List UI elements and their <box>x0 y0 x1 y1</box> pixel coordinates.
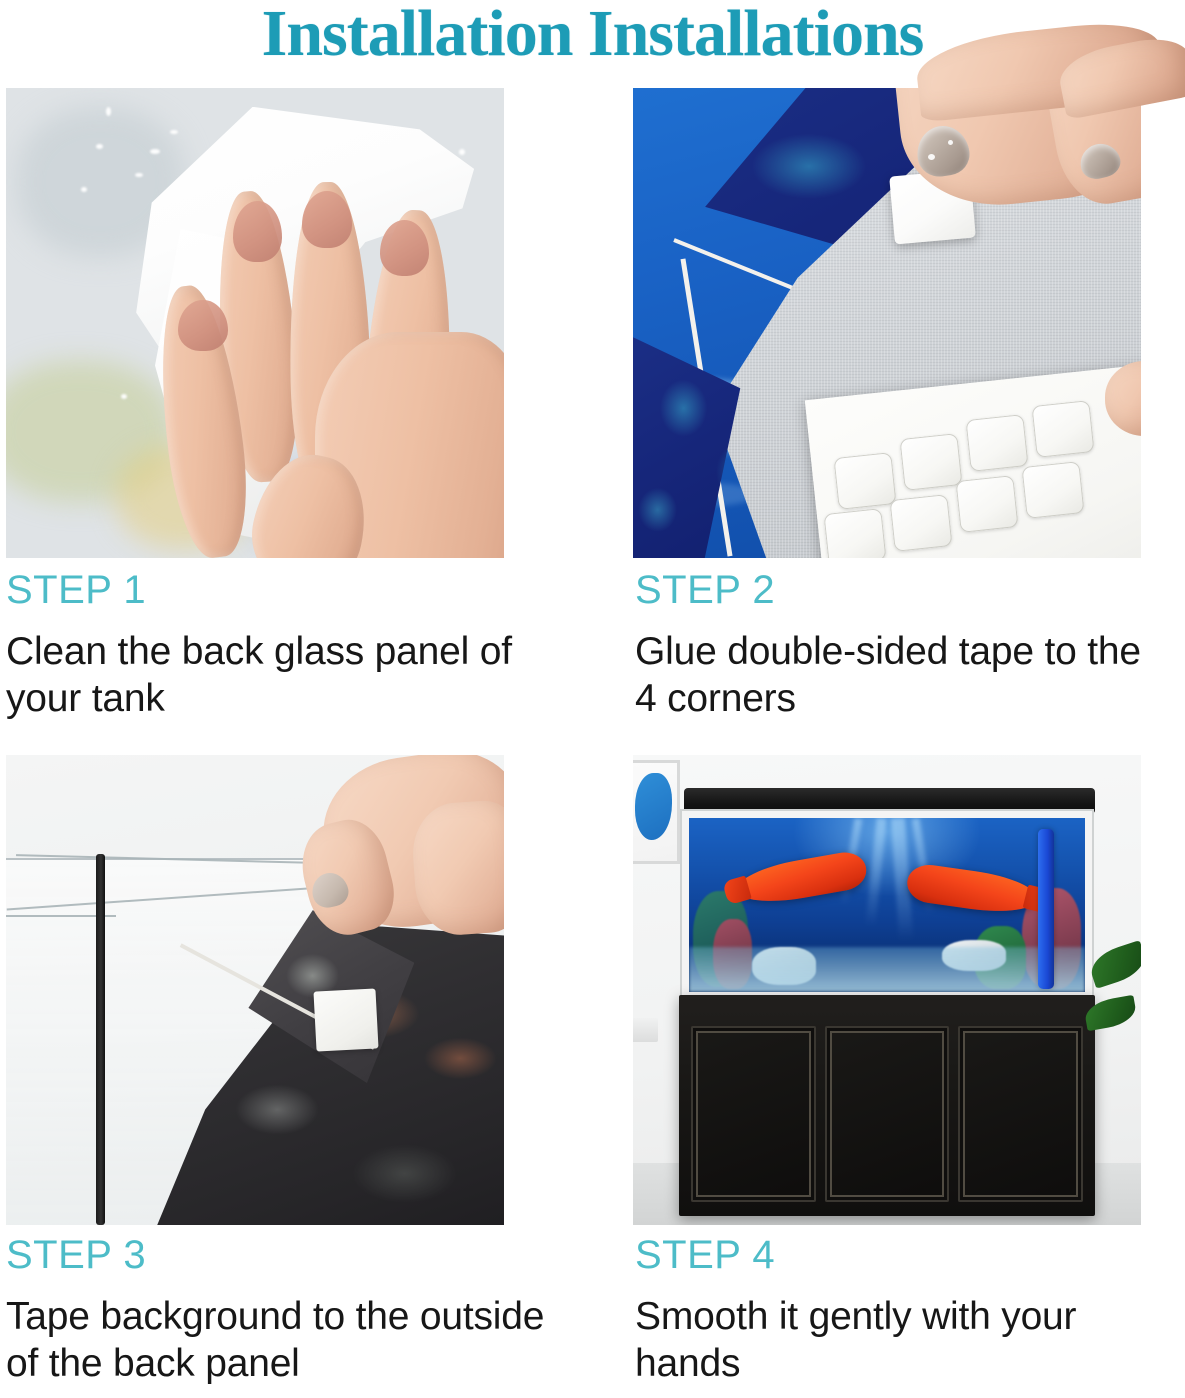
fingernail <box>178 300 228 352</box>
wall-art-frame <box>633 760 680 865</box>
step-3-photo <box>6 755 504 1225</box>
aquarium-hood <box>684 788 1095 814</box>
aquarium-cabinet-stand <box>679 995 1096 1216</box>
aquarium-tank <box>689 818 1085 992</box>
cabinet-door-right <box>958 1026 1083 1203</box>
aquarium-heater-tube <box>1038 829 1054 989</box>
adhesive-pad <box>966 414 1029 472</box>
step-1-label: STEP 1 <box>6 568 146 613</box>
nail-sparkle <box>928 154 935 160</box>
step-2-photo-clip <box>633 88 1141 558</box>
installation-guide-page: Installation Installations <box>0 0 1185 1398</box>
fingernail <box>302 191 352 247</box>
water-droplet <box>121 394 127 399</box>
double-sided-tape-square <box>313 988 378 1051</box>
adhesive-pad <box>823 508 886 558</box>
substrate-sand <box>689 947 1085 992</box>
step-2-photo <box>633 88 1141 558</box>
step-2-label: STEP 2 <box>635 568 775 613</box>
step-4-label: STEP 4 <box>635 1233 775 1278</box>
adhesive-pad <box>1032 400 1095 458</box>
adhesive-pad <box>956 475 1019 533</box>
water-droplet <box>135 173 143 177</box>
tank-corner-trim <box>96 854 105 1225</box>
cabinet-door-center <box>825 1026 950 1203</box>
adhesive-pad <box>1022 461 1085 519</box>
step-4-body: Smooth it gently with your hands <box>635 1293 1180 1387</box>
step-3-label: STEP 3 <box>6 1233 146 1278</box>
water-droplet <box>106 107 111 116</box>
adhesive-pad <box>890 494 953 552</box>
side-table <box>633 1018 658 1042</box>
wall-art-shape <box>635 773 672 840</box>
adhesive-pad <box>834 452 897 510</box>
adhesive-pad <box>900 433 963 491</box>
step-1-body: Clean the back glass panel of your tank <box>6 628 546 722</box>
step-4-photo <box>633 755 1141 1225</box>
water-droplet <box>81 187 87 192</box>
cabinet-door-left <box>691 1026 816 1203</box>
step-3-body: Tape background to the outside of the ba… <box>6 1293 566 1387</box>
nail-sparkle <box>948 140 953 145</box>
step-2-body: Glue double-sided tape to the 4 corners <box>635 628 1165 722</box>
step-1-photo <box>6 88 504 558</box>
